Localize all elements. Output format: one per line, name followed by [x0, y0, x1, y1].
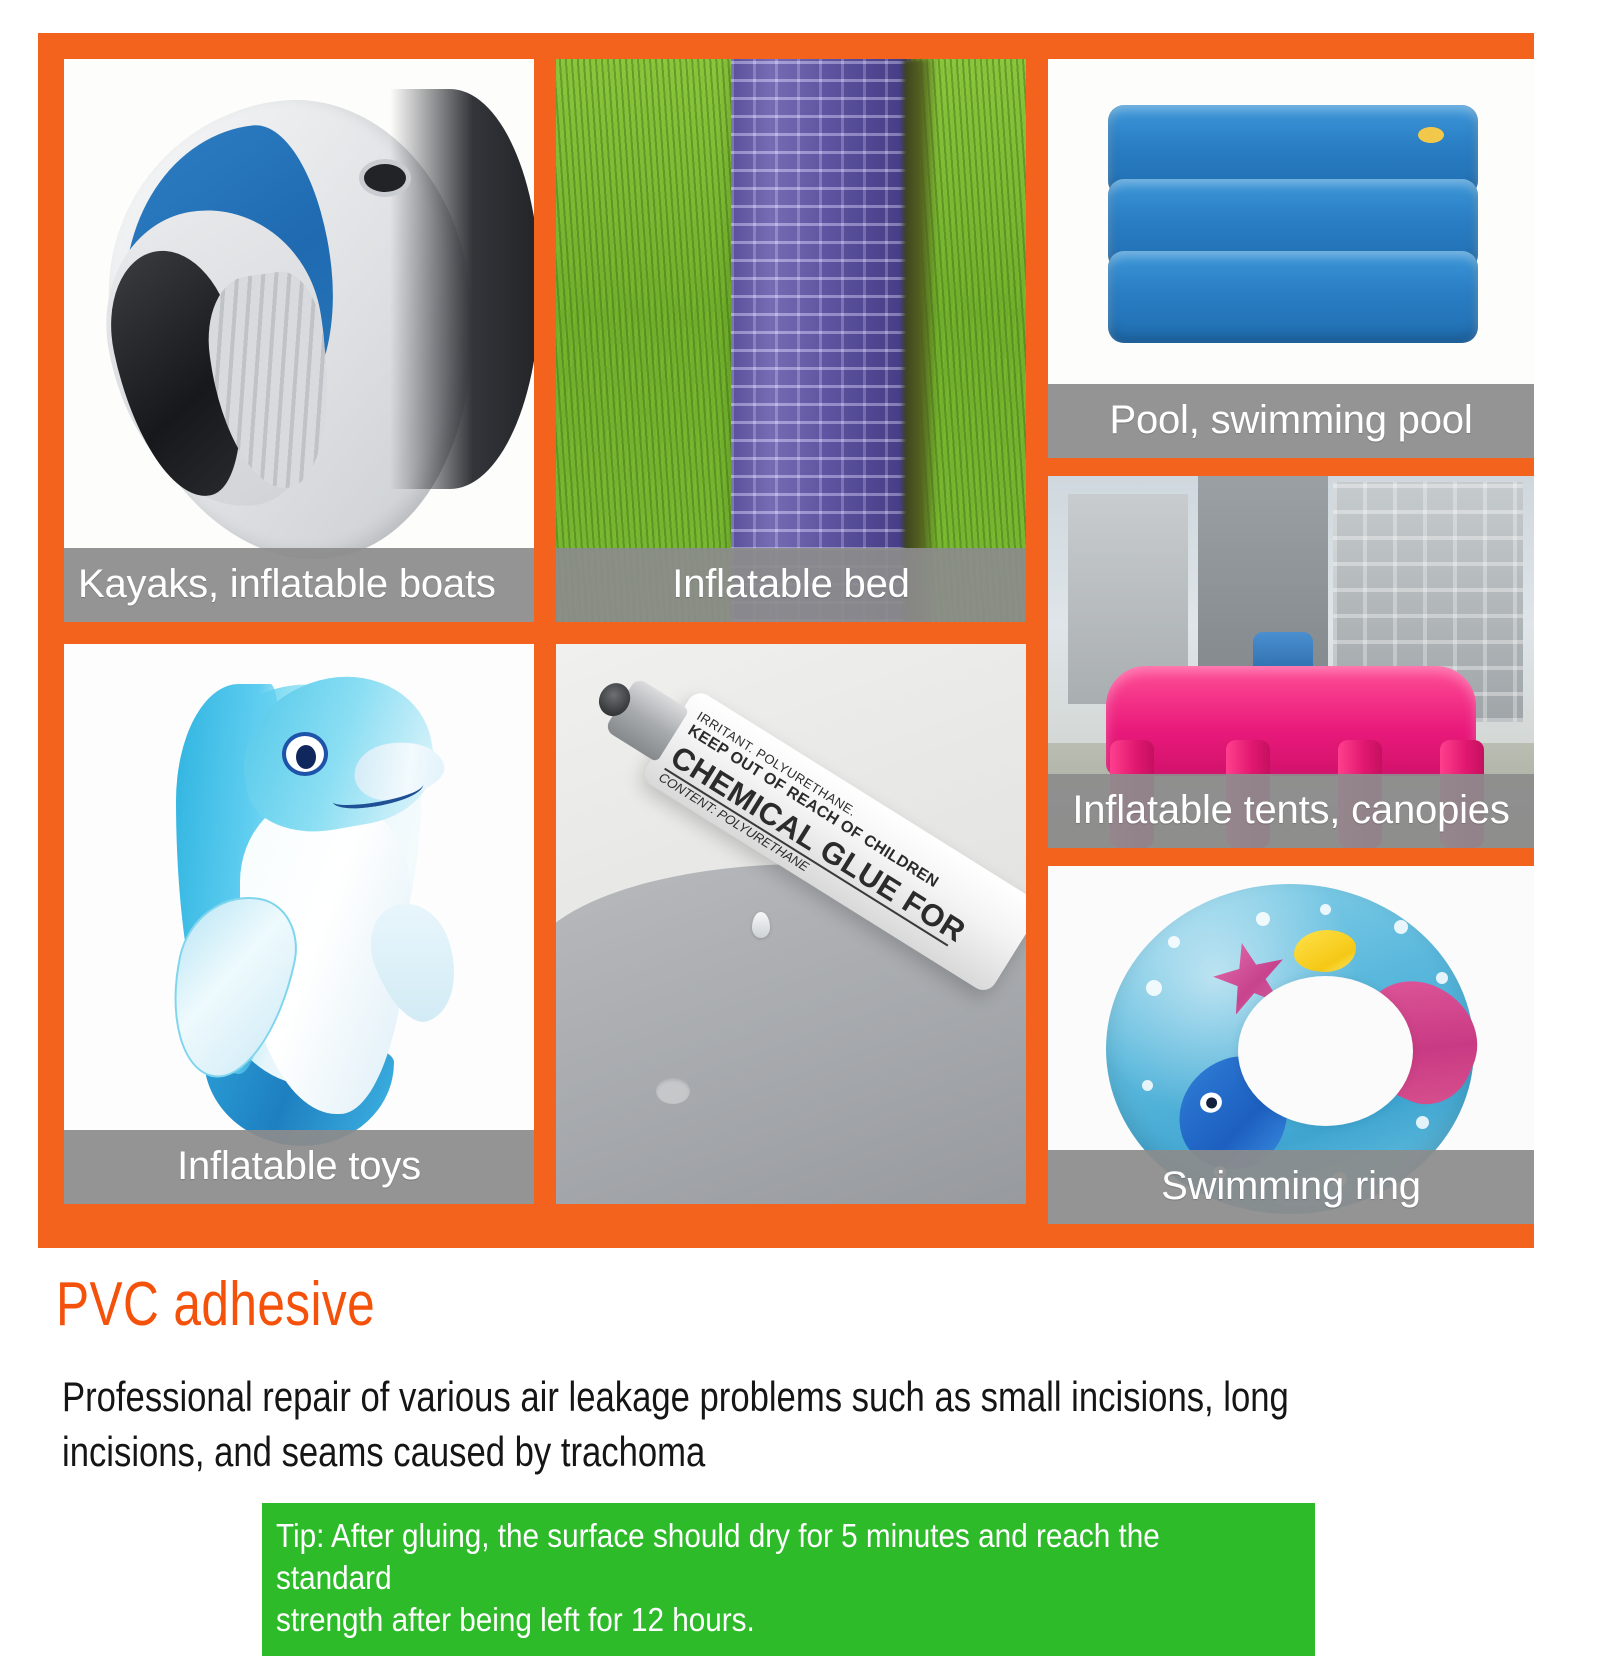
product-description: Professional repair of various air leaka…: [62, 1370, 1316, 1479]
panel-inflatable-toys[interactable]: Inflatable toys: [64, 644, 534, 1204]
glue-tube-image: IRRITANT. POLYURETHANE. KEEP OUT OF REAC…: [556, 644, 1026, 1204]
panel-kayaks-inflatable-boats[interactable]: Kayaks, inflatable boats: [64, 59, 534, 622]
inflatable-bed-image: [556, 59, 1026, 622]
caption-swimming-ring: Swimming ring: [1048, 1150, 1534, 1224]
panel-inflatable-tents-canopies[interactable]: Inflatable tents, canopies: [1048, 476, 1534, 848]
inflatable-dolphin-toy-image: [64, 644, 534, 1204]
caption-kayaks: Kayaks, inflatable boats: [64, 548, 534, 622]
glue-drop: [752, 912, 770, 938]
panel-inflatable-bed[interactable]: Inflatable bed: [556, 59, 1026, 622]
panel-glue-product-photo[interactable]: IRRITANT. POLYURETHANE. KEEP OUT OF REAC…: [556, 644, 1026, 1204]
page-title: PVC adhesive: [56, 1269, 375, 1340]
caption-inflatable-toys: Inflatable toys: [64, 1130, 534, 1204]
kayak-image: [64, 59, 534, 622]
tip-text: Tip: After gluing, the surface should dr…: [276, 1515, 1199, 1642]
caption-pool: Pool, swimming pool: [1048, 384, 1534, 458]
right-panel-stack: Pool, swimming pool Inflatable tents, ca…: [1048, 59, 1534, 1204]
caption-inflatable-bed: Inflatable bed: [556, 548, 1026, 622]
product-collage-frame: Kayaks, inflatable boats Inflatable bed …: [38, 33, 1534, 1248]
panel-pool-swimming-pool[interactable]: Pool, swimming pool: [1048, 59, 1534, 458]
caption-tents: Inflatable tents, canopies: [1048, 774, 1534, 848]
tip-banner: Tip: After gluing, the surface should dr…: [262, 1503, 1315, 1656]
panel-swimming-ring[interactable]: Swimming ring: [1048, 866, 1534, 1224]
